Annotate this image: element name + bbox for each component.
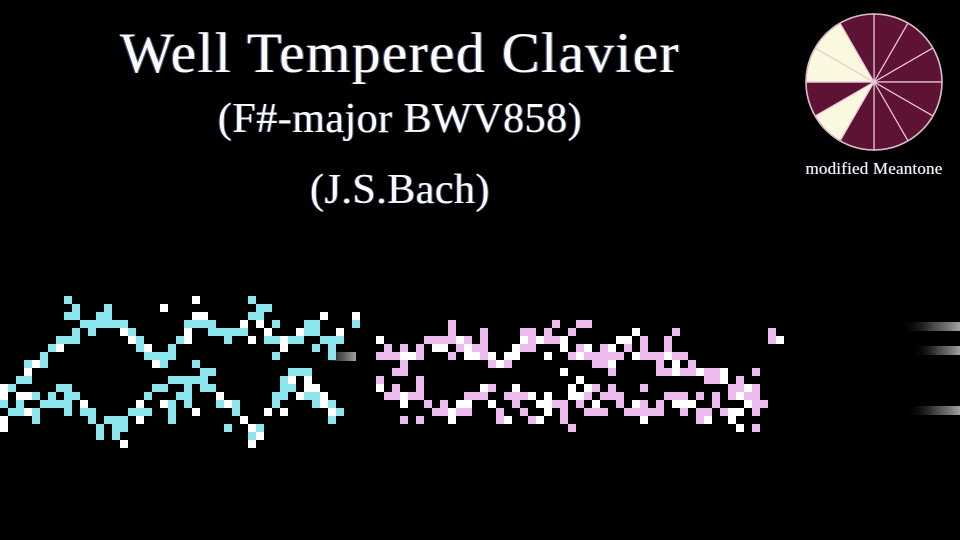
tuning-label: modified Meantone bbox=[788, 159, 960, 179]
page-title: Well Tempered Clavier bbox=[0, 22, 800, 86]
tuning-wheel-icon bbox=[788, 10, 960, 155]
subtitle-composer: (J.S.Bach) bbox=[0, 166, 800, 214]
video-frame: Well Tempered Clavier (F#-major BWV858) … bbox=[0, 0, 960, 540]
piano-roll-visualization bbox=[0, 296, 960, 448]
tuning-panel: modified Meantone bbox=[788, 10, 960, 179]
piano-roll-canvas bbox=[0, 296, 960, 448]
subtitle-key: (F#-major BWV858) bbox=[0, 95, 800, 143]
